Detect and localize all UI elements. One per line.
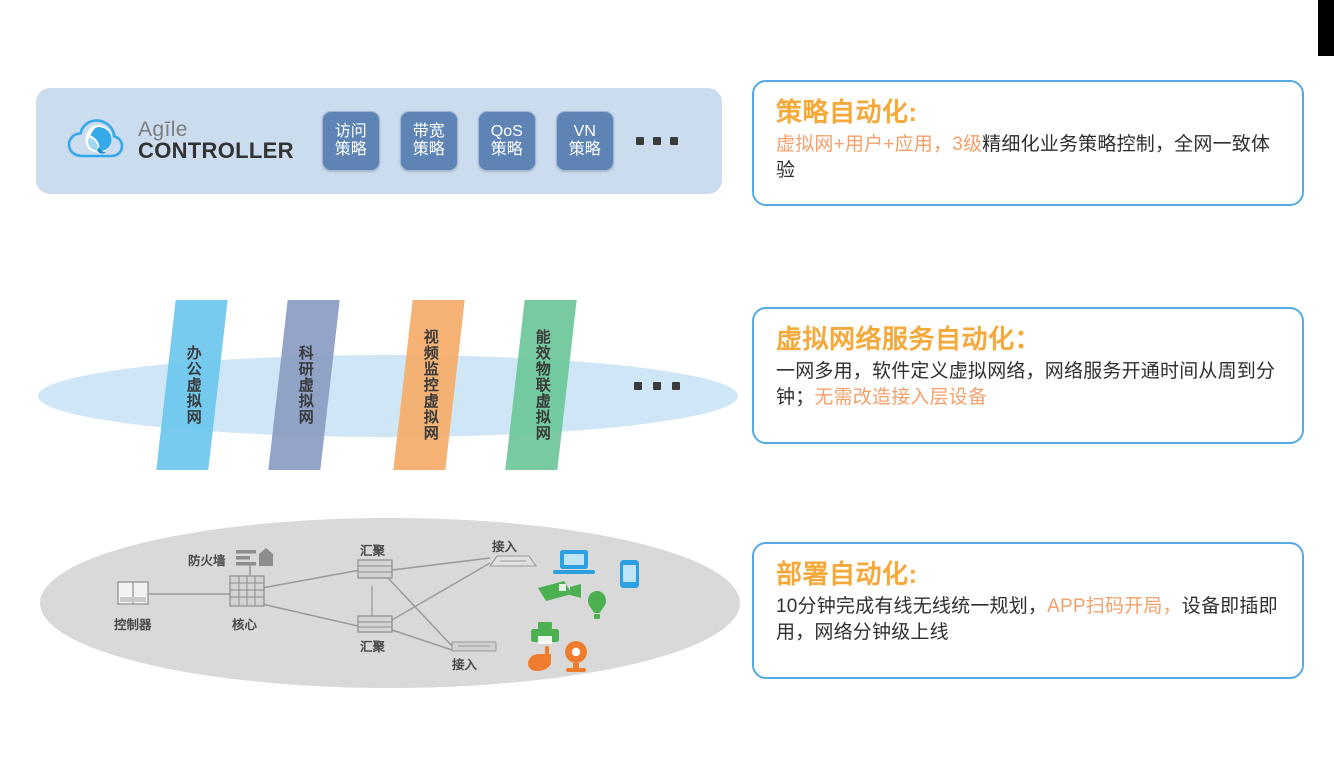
vn-ellipsis-icon (634, 382, 680, 390)
node-aggregation-top-icon (358, 560, 392, 578)
vn-plane-energy-iot: 能效物联虚拟网 (505, 300, 576, 470)
chip-line-1: QoS (491, 123, 523, 141)
feature-body: 10分钟完成有线无线统一规划，APP扫码开局，设备即插即用，网络分钟级上线 (776, 594, 1280, 648)
feature-body-part: 10分钟完成有线无线统一规划， (776, 596, 1047, 617)
feature-body: 虚拟网+用户+应用，3级精细化业务策略控制，全网一致体验 (776, 132, 1280, 186)
topology-label-access-top: 接入 (492, 536, 517, 555)
vn-plane-label: 能效物联虚拟网 (533, 329, 550, 441)
vn-plane-label: 办公虚拟网 (184, 345, 201, 425)
corner-marker (1318, 0, 1334, 56)
feature-body-part: APP扫码开局， (1047, 596, 1182, 617)
feature-body-part: 虚拟网+用户+应用，3级 (776, 134, 982, 155)
printer-icon (531, 622, 559, 644)
chip-line-1: 带宽 (413, 123, 445, 141)
vn-plane-research: 科研虚拟网 (268, 300, 339, 470)
agile-controller-banner: Agīle CONTROLLER 访问 策略 带宽 策略 QoS 策略 VN 策… (36, 88, 722, 194)
node-access-bottom-icon (452, 642, 496, 651)
dot (634, 382, 642, 390)
chip-line-1: 访问 (335, 123, 367, 141)
vn-plane-label: 视频监控虚拟网 (421, 329, 438, 441)
webcam-icon (565, 641, 587, 672)
agile-wordmark: Agīle CONTROLLER (138, 119, 294, 163)
topology-links (148, 558, 490, 650)
chip-line-2: 策略 (491, 141, 523, 159)
dome-camera-icon (528, 646, 551, 671)
network-topology-diagram: 控制器 防火墙 核心 汇聚 汇聚 接入 接入 (40, 518, 740, 690)
cloud-icon (66, 116, 124, 167)
tablet-icon (620, 560, 639, 588)
vn-plane-office: 办公虚拟网 (156, 300, 227, 470)
node-core-icon (230, 576, 264, 606)
chip-line-2: 策略 (413, 141, 445, 159)
policy-chip-bandwidth[interactable]: 带宽 策略 (400, 111, 458, 171)
vn-plane-video-surveillance: 视频监控虚拟网 (393, 300, 464, 470)
chip-line-2: 策略 (335, 141, 367, 159)
topology-label-aggregation-top: 汇聚 (360, 540, 385, 559)
agile-controller-logo: Agīle CONTROLLER (66, 116, 294, 167)
policy-chip-row: 访问 策略 带宽 策略 QoS 策略 VN 策略 (322, 111, 678, 171)
feature-title: 虚拟网络服务自动化： (776, 323, 1280, 356)
topology-svg (40, 518, 740, 690)
feature-card-policy-automation: 策略自动化: 虚拟网+用户+应用，3级精细化业务策略控制，全网一致体验 (752, 80, 1304, 206)
feature-body-part: 无需改造接入层设备 (814, 387, 987, 408)
dot (636, 137, 644, 145)
smart-light-icon (588, 591, 606, 619)
laptop-icon (553, 550, 595, 574)
feature-card-virtual-network-automation: 虚拟网络服务自动化： 一网多用，软件定义虚拟网络，网络服务开通时间从周到分钟；无… (752, 307, 1304, 444)
projector-icon (538, 581, 581, 601)
node-access-top-icon (490, 556, 536, 566)
topology-label-core: 核心 (232, 614, 257, 633)
policy-chip-vn[interactable]: VN 策略 (556, 111, 614, 171)
node-aggregation-bottom-icon (358, 616, 392, 632)
topology-label-firewall: 防火墙 (188, 550, 226, 569)
node-controller-icon (118, 582, 148, 604)
policy-chip-access[interactable]: 访问 策略 (322, 111, 380, 171)
dot (670, 137, 678, 145)
virtual-network-diagram: 办公虚拟网 科研虚拟网 视频监控虚拟网 能效物联虚拟网 (28, 300, 728, 495)
policy-chip-qos[interactable]: QoS 策略 (478, 111, 536, 171)
topology-label-access-bottom: 接入 (452, 654, 477, 673)
feature-card-deployment-automation: 部署自动化: 10分钟完成有线无线统一规划，APP扫码开局，设备即插即用，网络分… (752, 542, 1304, 679)
dot (653, 382, 661, 390)
agile-word: Agīle (138, 119, 294, 140)
node-firewall-icon (236, 548, 273, 566)
banner-ellipsis-icon (636, 137, 678, 145)
vn-plane-label: 科研虚拟网 (296, 345, 313, 425)
virtual-network-ellipse (38, 355, 738, 437)
dot (653, 137, 661, 145)
topology-label-aggregation-bottom: 汇聚 (360, 636, 385, 655)
controller-word: CONTROLLER (138, 140, 294, 162)
feature-title: 部署自动化: (776, 558, 1280, 591)
chip-line-2: 策略 (569, 141, 601, 159)
dot (672, 382, 680, 390)
chip-line-1: VN (574, 123, 596, 141)
feature-body: 一网多用，软件定义虚拟网络，网络服务开通时间从周到分钟；无需改造接入层设备 (776, 359, 1280, 413)
feature-title: 策略自动化: (776, 96, 1280, 129)
topology-label-controller: 控制器 (114, 614, 152, 633)
